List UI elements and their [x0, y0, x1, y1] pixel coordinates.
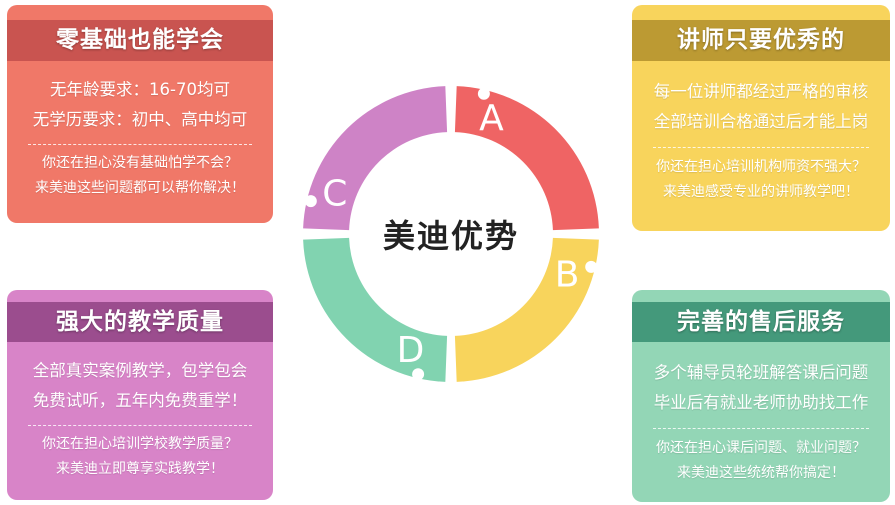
card-a-secondary-line-1: 你还在担心没有基础怕学不会？	[42, 151, 238, 176]
card-c-title: 强大的教学质量	[56, 311, 224, 334]
card-b-body: 每一位讲师都经过严格的审核 全部培训合格通过后才能上岗 你还在担心培训机构师资不…	[632, 77, 890, 205]
donut-notch-b	[585, 261, 597, 273]
donut-segment-d[interactable]	[303, 238, 447, 382]
card-b-header: 讲师只要优秀的	[632, 20, 890, 61]
card-b-divider	[653, 147, 870, 148]
advantage-card-c[interactable]: 强大的教学质量 全部真实案例教学，包学包会 免费试听，五年内免费重学！ 你还在担…	[7, 290, 273, 500]
card-c-primary-line-1: 全部真实案例教学，包学包会	[33, 356, 248, 386]
donut-segment-a[interactable]	[455, 86, 599, 230]
card-d-secondary-line-1: 你还在担心课后问题、就业问题？	[656, 436, 866, 461]
advantage-card-a[interactable]: 零基础也能学会 无年龄要求：16-70均可 无学历要求：初中、高中均可 你还在担…	[7, 5, 273, 223]
card-a-divider	[28, 144, 251, 145]
card-d-header: 完善的售后服务	[632, 302, 890, 342]
card-d-secondary-line-2: 来美迪这些统统帮你搞定！	[677, 461, 845, 486]
card-a-title: 零基础也能学会	[56, 29, 224, 52]
card-d-divider	[653, 428, 870, 429]
card-c-secondary-line-2: 来美迪立即尊享实践教学！	[56, 457, 224, 482]
card-a-body: 无年龄要求：16-70均可 无学历要求：初中、高中均可 你还在担心没有基础怕学不…	[7, 75, 273, 201]
donut-notch-c	[305, 195, 317, 207]
card-c-body: 全部真实案例教学，包学包会 免费试听，五年内免费重学！ 你还在担心培训学校教学质…	[7, 356, 273, 482]
donut-label-c: C	[322, 174, 347, 215]
card-b-secondary-line-1: 你还在担心培训机构师资不强大？	[656, 155, 866, 180]
card-c-secondary-line-1: 你还在担心培训学校教学质量？	[42, 432, 238, 457]
card-d-title: 完善的售后服务	[677, 311, 845, 334]
donut-segment-group	[303, 86, 599, 382]
card-a-primary-line-2: 无学历要求：初中、高中均可	[33, 105, 248, 135]
donut-label-b: B	[555, 254, 580, 295]
card-b-title: 讲师只要优秀的	[677, 29, 845, 52]
card-b-secondary-line-2: 来美迪感受专业的讲师教学吧！	[663, 180, 859, 205]
card-a-header: 零基础也能学会	[7, 20, 273, 61]
card-d-primary-line-2: 毕业后有就业老师协助找工作	[654, 388, 869, 418]
card-d-body: 多个辅导员轮班解答课后问题 毕业后有就业老师协助找工作 你还在担心课后问题、就业…	[632, 358, 890, 486]
card-b-primary-line-1: 每一位讲师都经过严格的审核	[654, 77, 869, 107]
card-c-primary-line-2: 免费试听，五年内免费重学！	[33, 386, 248, 416]
card-a-secondary-line-2: 来美迪这些问题都可以帮你解决！	[35, 176, 245, 201]
card-d-primary-line-1: 多个辅导员轮班解答课后问题	[654, 358, 869, 388]
advantage-card-d[interactable]: 完善的售后服务 多个辅导员轮班解答课后问题 毕业后有就业老师协助找工作 你还在担…	[632, 290, 890, 502]
advantage-card-b[interactable]: 讲师只要优秀的 每一位讲师都经过严格的审核 全部培训合格通过后才能上岗 你还在担…	[632, 5, 890, 231]
card-a-primary-line-1: 无年龄要求：16-70均可	[50, 75, 230, 105]
donut-label-d: D	[397, 330, 425, 371]
card-b-primary-line-2: 全部培训合格通过后才能上岗	[654, 107, 869, 137]
donut-svg: ABDC	[295, 78, 607, 390]
donut-label-a: A	[479, 98, 504, 139]
card-c-divider	[28, 425, 251, 426]
card-c-header: 强大的教学质量	[7, 302, 273, 342]
advantage-donut-chart: ABDC 美迪优势	[295, 78, 607, 390]
